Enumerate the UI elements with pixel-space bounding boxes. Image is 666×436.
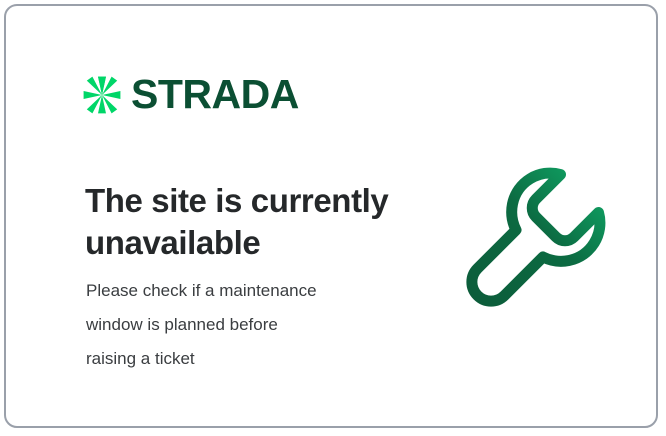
brand-logo: STRADA <box>82 74 299 115</box>
page-title: The site is currently unavailable <box>85 180 425 263</box>
brand-wordmark: STRADA <box>131 74 299 115</box>
status-card: STRADA The site is currently unavailable… <box>4 4 658 428</box>
description-line: Please check if a maintenance <box>86 274 416 308</box>
description-line: raising a ticket <box>86 342 416 376</box>
wrench-icon <box>461 158 621 318</box>
page-description: Please check if a maintenance window is … <box>86 274 416 376</box>
description-line: window is planned before <box>86 308 416 342</box>
strada-asterisk-icon <box>82 75 122 115</box>
